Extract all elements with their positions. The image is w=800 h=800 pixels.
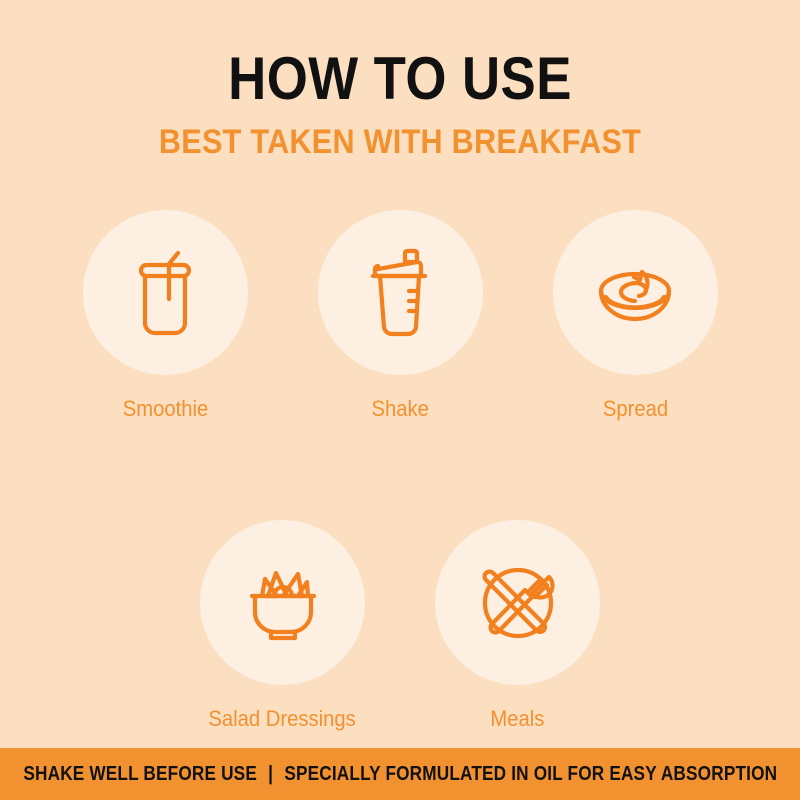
crossed-fork-and-knife-plate-icon	[474, 559, 562, 647]
icon-disc-spread	[553, 210, 718, 375]
usage-grid: Smoothie	[0, 210, 800, 732]
shaker-bottle-icon	[359, 247, 441, 339]
icon-disc-meals	[435, 520, 600, 685]
usage-label-smoothie: Smoothie	[122, 396, 208, 422]
icon-disc-smoothie	[83, 210, 248, 375]
footer-right-text: SPECIALLY FORMULATED IN OIL FOR EASY ABS…	[284, 763, 777, 785]
footer-banner: SHAKE WELL BEFORE USE | SPECIALLY FORMUL…	[0, 748, 800, 800]
usage-item-smoothie[interactable]: Smoothie	[83, 210, 248, 422]
page-title: HOW TO USE	[48, 0, 752, 110]
footer-text: SHAKE WELL BEFORE USE | SPECIALLY FORMUL…	[23, 763, 777, 785]
usage-item-spread[interactable]: Spread	[553, 210, 718, 422]
icon-disc-shake	[318, 210, 483, 375]
usage-row-2: Salad Dressings	[0, 520, 800, 732]
usage-item-meals[interactable]: Meals	[435, 520, 600, 732]
footer-left-text: SHAKE WELL BEFORE USE	[23, 763, 257, 785]
footer-separator: |	[257, 763, 284, 785]
mason-jar-with-straw-icon	[124, 247, 206, 339]
usage-label-salad-dressings: Salad Dressings	[209, 706, 356, 732]
usage-label-meals: Meals	[491, 706, 545, 732]
usage-row-1: Smoothie	[0, 210, 800, 422]
bowl-with-swirl-spread-icon	[589, 253, 681, 333]
usage-label-spread: Spread	[602, 396, 667, 422]
usage-item-salad-dressings[interactable]: Salad Dressings	[200, 520, 365, 732]
salad-bowl-icon	[238, 560, 328, 646]
icon-disc-salad-dressings	[200, 520, 365, 685]
usage-item-shake[interactable]: Shake	[318, 210, 483, 422]
usage-label-shake: Shake	[371, 396, 428, 422]
poster-header: HOW TO USE BEST TAKEN WITH BREAKFAST	[0, 0, 800, 160]
page-subtitle: BEST TAKEN WITH BREAKFAST	[40, 110, 760, 160]
how-to-use-poster: HOW TO USE BEST TAKEN WITH BREAKFAST	[0, 0, 800, 800]
